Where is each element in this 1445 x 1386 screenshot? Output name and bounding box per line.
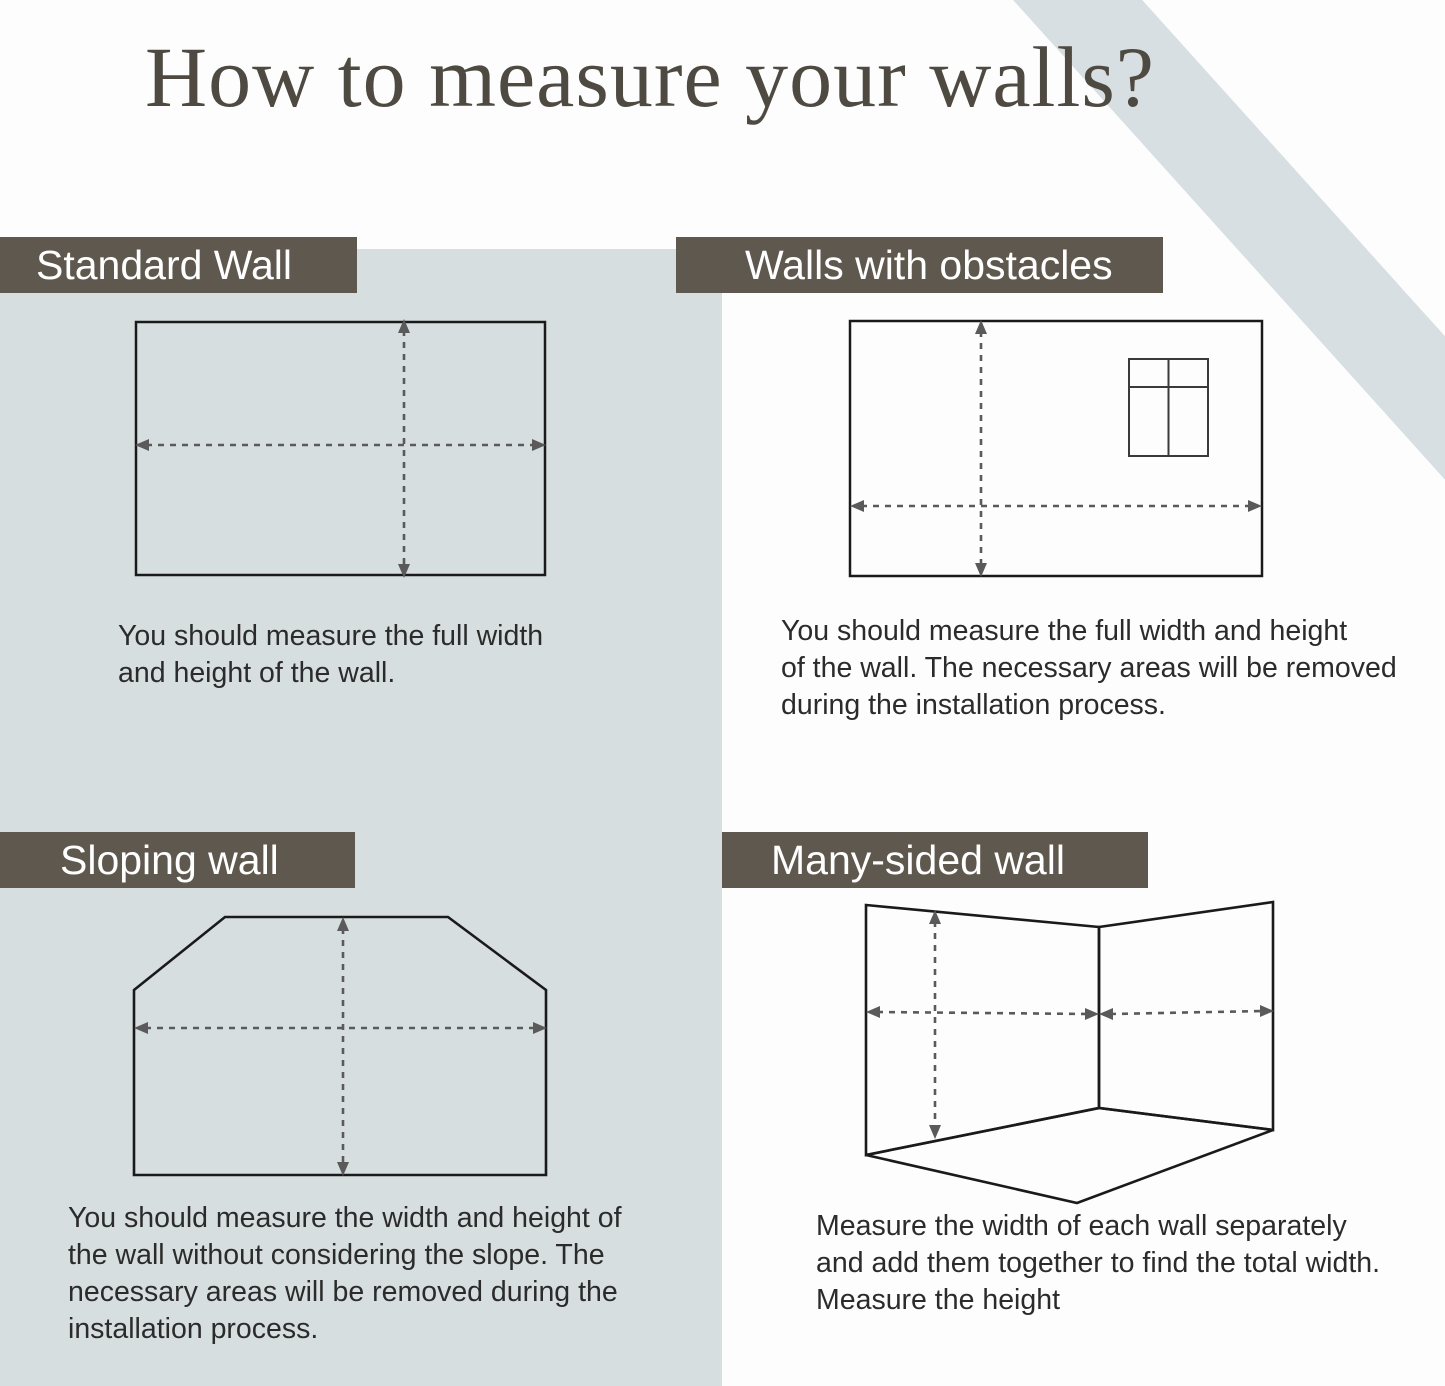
height-measure-arrow [398,319,410,578]
width-measure-arrow [135,439,546,451]
caption-sloping-wall: You should measure the width and height … [68,1200,668,1348]
width-measure-arrow-left-wall [866,1006,1099,1020]
section-label-many-sided-wall: Many-sided wall [771,832,1065,888]
floor-face [866,1108,1273,1203]
caption-standard-wall: You should measure the full width and he… [118,618,618,692]
section-label-walls-with-obstacles: Walls with obstacles [745,237,1113,293]
width-measure-arrow [134,1022,547,1034]
diagram-standard-wall [120,300,570,600]
section-label-standard-wall: Standard Wall [36,237,292,293]
width-measure-arrow [850,500,1262,512]
height-measure-arrow [929,910,941,1139]
section-header-walls-with-obstacles: Walls with obstacles [676,237,1163,293]
window-icon [1129,359,1208,456]
caption-walls-with-obstacles: You should measure the full width and he… [781,613,1421,724]
infographic-page: How to measure your walls? Standard Wall… [0,0,1445,1386]
page-title: How to measure your walls? [0,34,1300,120]
right-wall-face [1099,902,1273,1130]
section-header-sloping-wall: Sloping wall [0,832,355,888]
height-measure-arrow [337,917,349,1176]
section-label-sloping-wall: Sloping wall [60,832,279,888]
height-measure-arrow [975,320,987,577]
width-measure-arrow-right-wall [1099,1005,1274,1020]
section-header-many-sided-wall: Many-sided wall [722,832,1148,888]
left-wall-face [866,905,1099,1155]
wall-outline-rect [136,322,545,575]
diagram-many-sided-wall [845,890,1295,1210]
sloping-wall-outline [134,917,546,1175]
section-header-standard-wall: Standard Wall [0,237,357,293]
diagram-sloping-wall [118,895,568,1195]
diagram-walls-with-obstacles [830,300,1290,600]
caption-many-sided-wall: Measure the width of each wall separatel… [816,1208,1436,1319]
